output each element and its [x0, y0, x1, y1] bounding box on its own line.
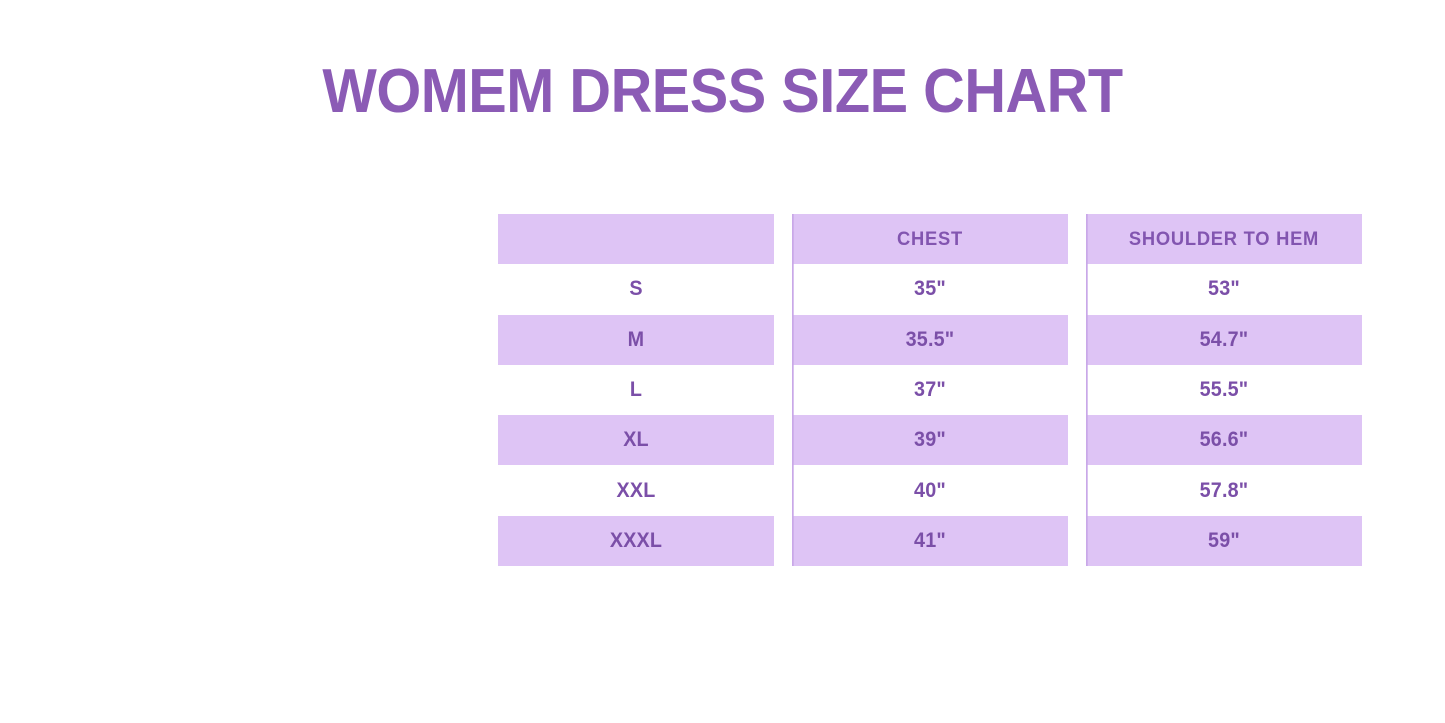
cell-shoulder-to-hem: 56.6" [1086, 415, 1362, 465]
table-row: XXXL 41" 59" [489, 516, 1371, 566]
cell-chest: 35.5" [792, 315, 1068, 365]
table-row: XL 39" 56.6" [489, 415, 1371, 465]
cell-size: L [498, 365, 774, 415]
cell-chest: 35" [792, 264, 1068, 314]
cell-shoulder-to-hem: 55.5" [1086, 365, 1362, 415]
cell-size: S [498, 264, 774, 314]
table-row: M 35.5" 54.7" [489, 315, 1371, 365]
table-header-row: CHEST SHOULDER TO HEM [489, 214, 1371, 264]
cell-size: M [498, 315, 774, 365]
column-header-shoulder-to-hem: SHOULDER TO HEM [1086, 214, 1362, 264]
size-chart-table: CHEST SHOULDER TO HEM S 35" 53" M 35.5" … [489, 214, 1371, 566]
size-chart-table-container: CHEST SHOULDER TO HEM S 35" 53" M 35.5" … [489, 214, 1371, 566]
column-header-chest: CHEST [792, 214, 1068, 264]
cell-size: XXXL [498, 516, 774, 566]
page-title: WOMEM DRESS SIZE CHART [51, 56, 1395, 128]
table-row: L 37" 55.5" [489, 365, 1371, 415]
column-header-size [498, 214, 774, 264]
table-row: XXL 40" 57.8" [489, 465, 1371, 515]
cell-shoulder-to-hem: 53" [1086, 264, 1362, 314]
cell-size: XXL [498, 465, 774, 515]
cell-chest: 39" [792, 415, 1068, 465]
cell-shoulder-to-hem: 54.7" [1086, 315, 1362, 365]
cell-chest: 41" [792, 516, 1068, 566]
cell-shoulder-to-hem: 57.8" [1086, 465, 1362, 515]
cell-chest: 40" [792, 465, 1068, 515]
table-row: S 35" 53" [489, 264, 1371, 314]
cell-chest: 37" [792, 365, 1068, 415]
size-chart-page: WOMEM DRESS SIZE CHART CHEST SHOULDER TO… [0, 0, 1445, 723]
cell-shoulder-to-hem: 59" [1086, 516, 1362, 566]
cell-size: XL [498, 415, 774, 465]
